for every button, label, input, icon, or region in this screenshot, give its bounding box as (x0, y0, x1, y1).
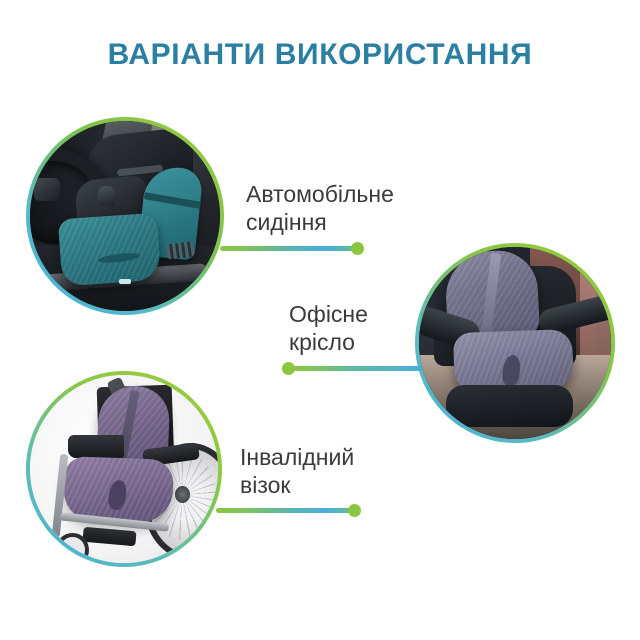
photo-car-seat (30, 121, 220, 311)
cushion-texture (58, 213, 161, 286)
car-steering-hub (34, 178, 61, 201)
wheelchair-caster-wheel (56, 533, 88, 563)
car-gear-lever (98, 186, 115, 207)
page-title: ВАРІАНТИ ВИКОРИСТАННЯ (0, 38, 640, 72)
connector-dot-wheelchair (348, 504, 361, 517)
callout-label-car-seat: Автомобільне сидіння (246, 180, 456, 236)
scene-car-interior (30, 121, 220, 311)
wheelchair-armrest-left (68, 435, 124, 458)
wheelchair-wheel-hub (175, 486, 190, 503)
teal-seat-cushion (58, 213, 161, 286)
infographic-canvas: ВАРІАНТИ ВИКОРИСТАННЯ (0, 0, 640, 640)
photo-circle-wheelchair[interactable] (26, 371, 222, 567)
office-chair-base (446, 385, 573, 427)
callout-label-wheelchair: Інвалідний візок (240, 443, 440, 499)
scene-wheelchair (30, 375, 218, 563)
connector-line-wheelchair (216, 508, 355, 513)
connector-line-office-chair (288, 366, 422, 371)
connector-dot-office-chair (282, 362, 295, 375)
connector-line-car-seat (220, 246, 358, 251)
connector-dot-car-seat (351, 242, 364, 255)
callout-label-office-chair: Офісне крісло (289, 300, 479, 356)
cushion-brand-tag (119, 279, 130, 285)
photo-circle-car-seat[interactable] (26, 117, 224, 315)
photo-wheelchair (30, 375, 218, 563)
